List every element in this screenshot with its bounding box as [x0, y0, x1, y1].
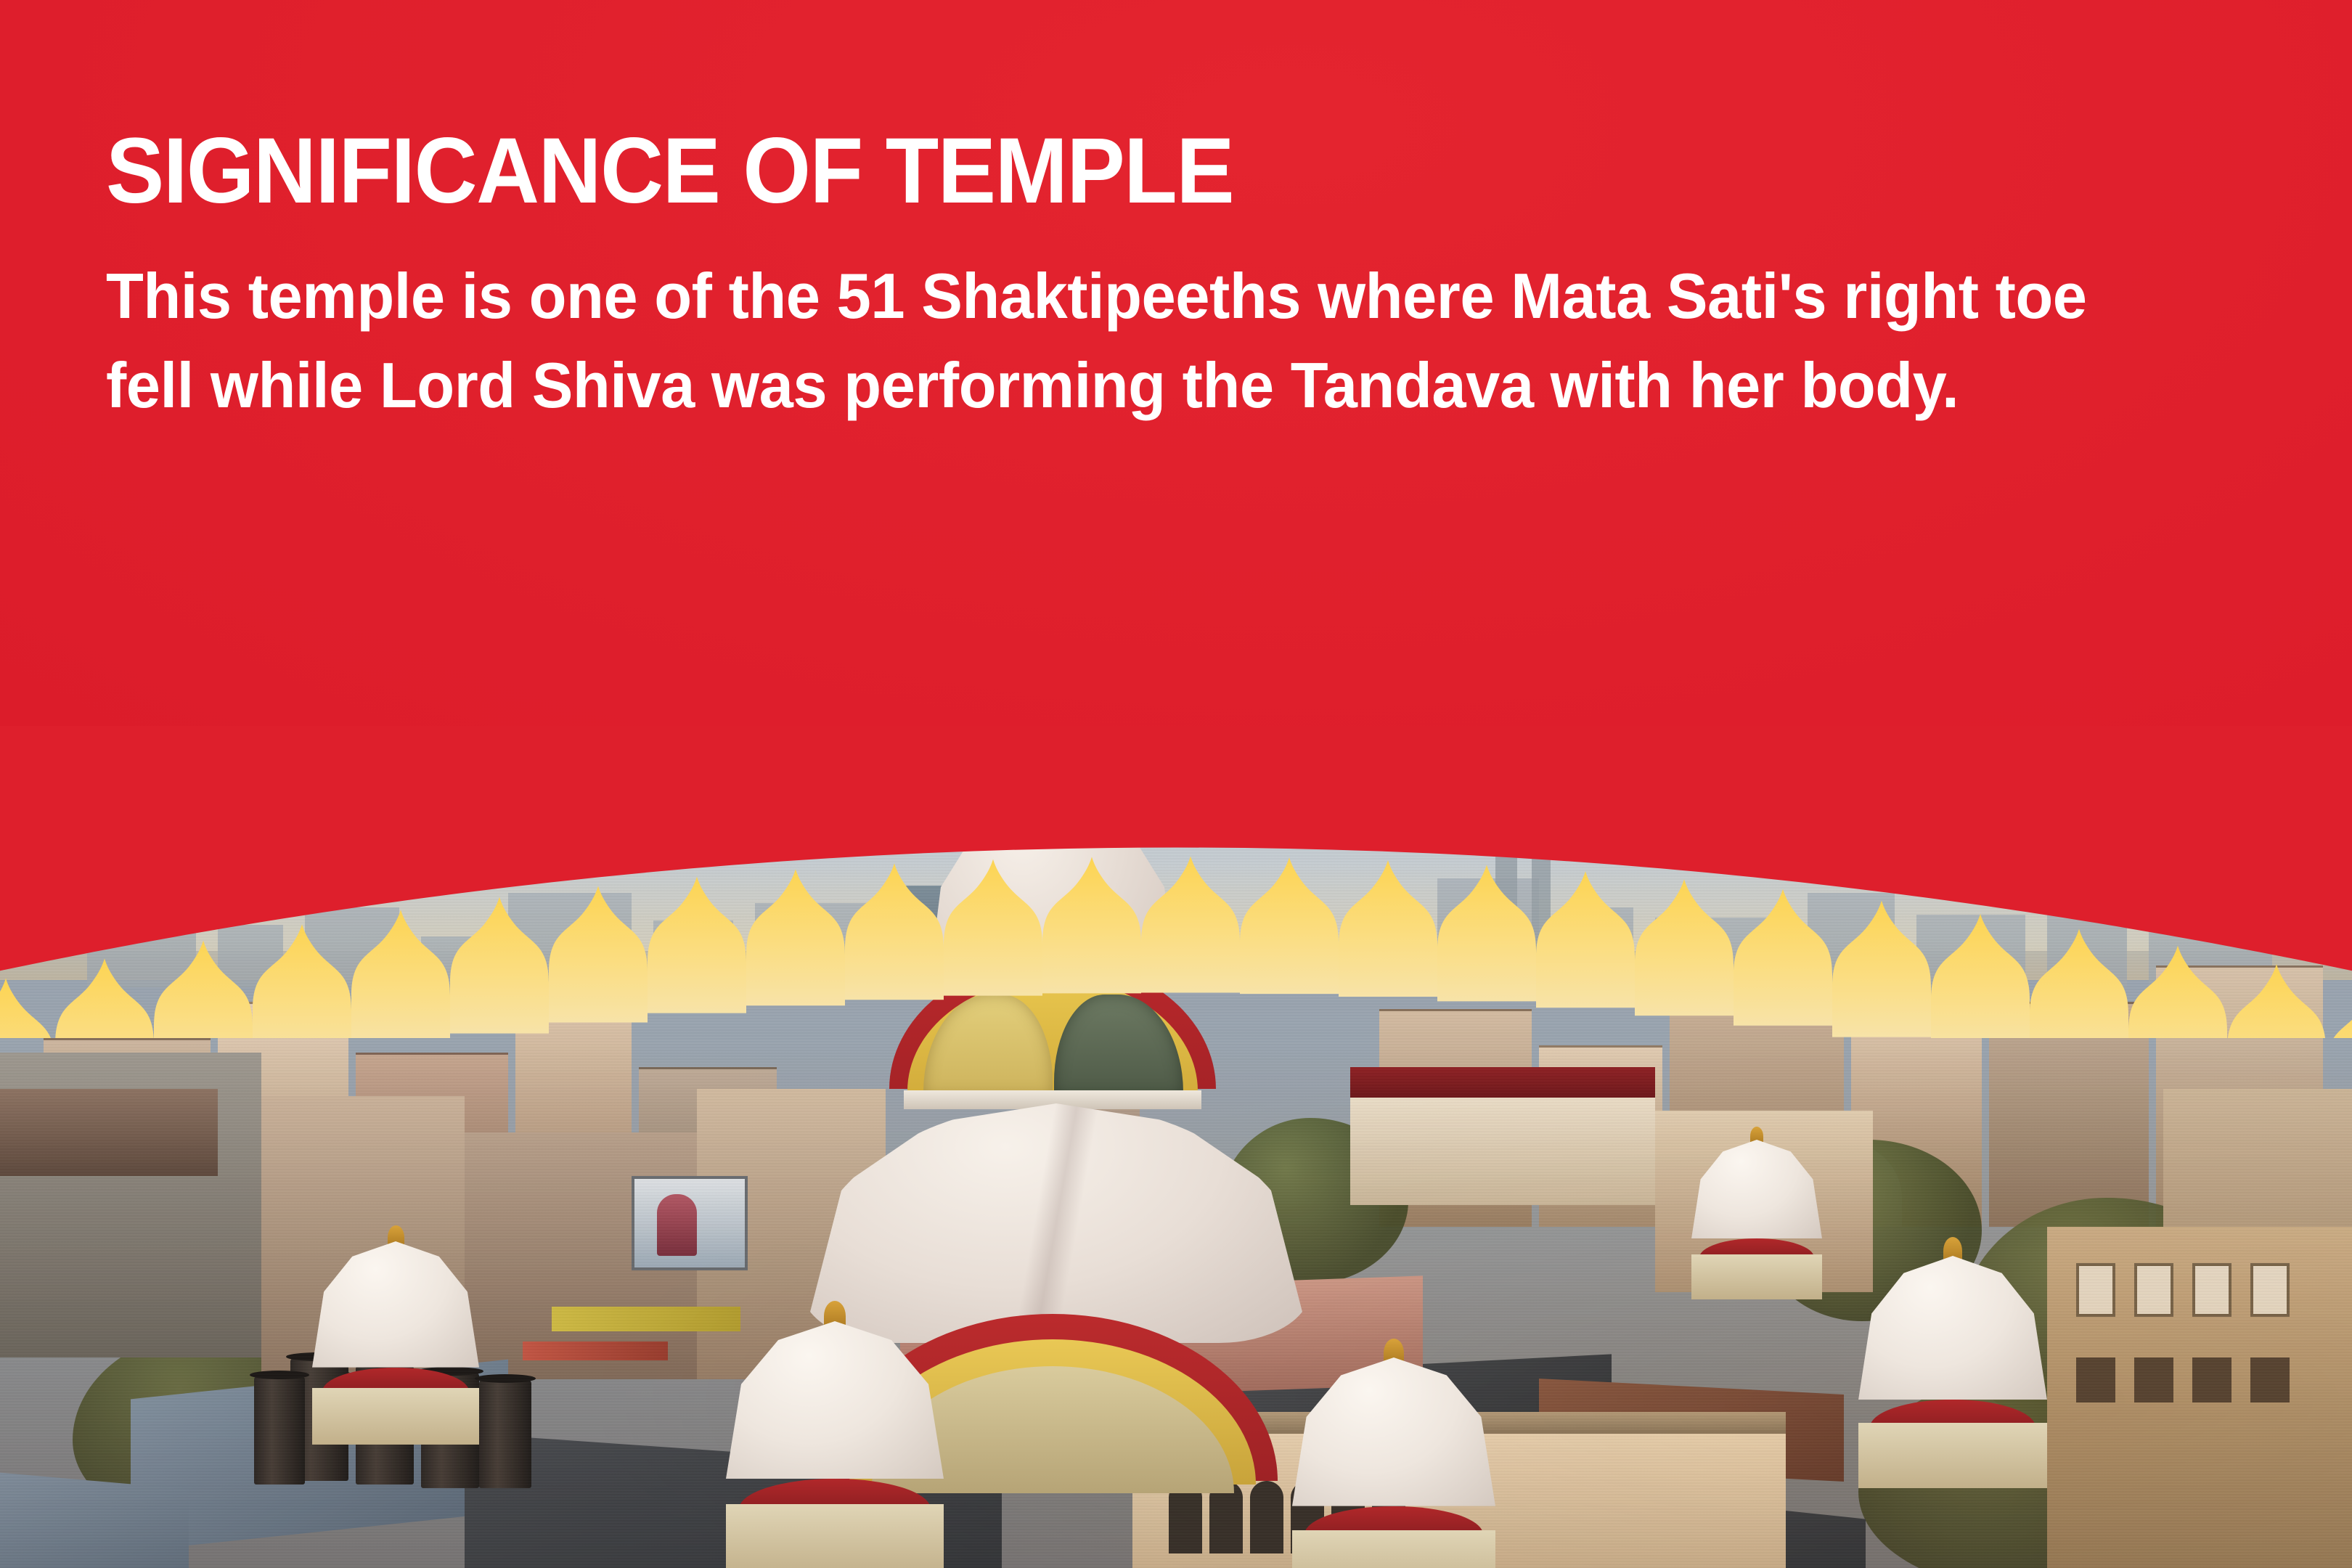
temple-photo — [0, 733, 2352, 1568]
photo-content — [0, 733, 2352, 1568]
photo-arch-clip — [0, 733, 2352, 1568]
temple-main-dome — [802, 1103, 1310, 1343]
text-block: SIGNIFICANCE OF TEMPLE This temple is on… — [106, 125, 2284, 430]
water-tank — [254, 1376, 305, 1485]
slide-canvas: SIGNIFICANCE OF TEMPLE This temple is on… — [0, 0, 2352, 1568]
side-shrine — [1691, 1140, 1822, 1299]
side-shrine — [1292, 1357, 1495, 1568]
side-shrine — [1858, 1256, 2047, 1488]
side-shrine — [312, 1241, 479, 1445]
water-tank — [479, 1379, 531, 1488]
body-paragraph: This temple is one of the 51 Shaktipeeth… — [106, 218, 2179, 430]
side-shrine — [726, 1321, 944, 1568]
page-title: SIGNIFICANCE OF TEMPLE — [106, 125, 2153, 218]
